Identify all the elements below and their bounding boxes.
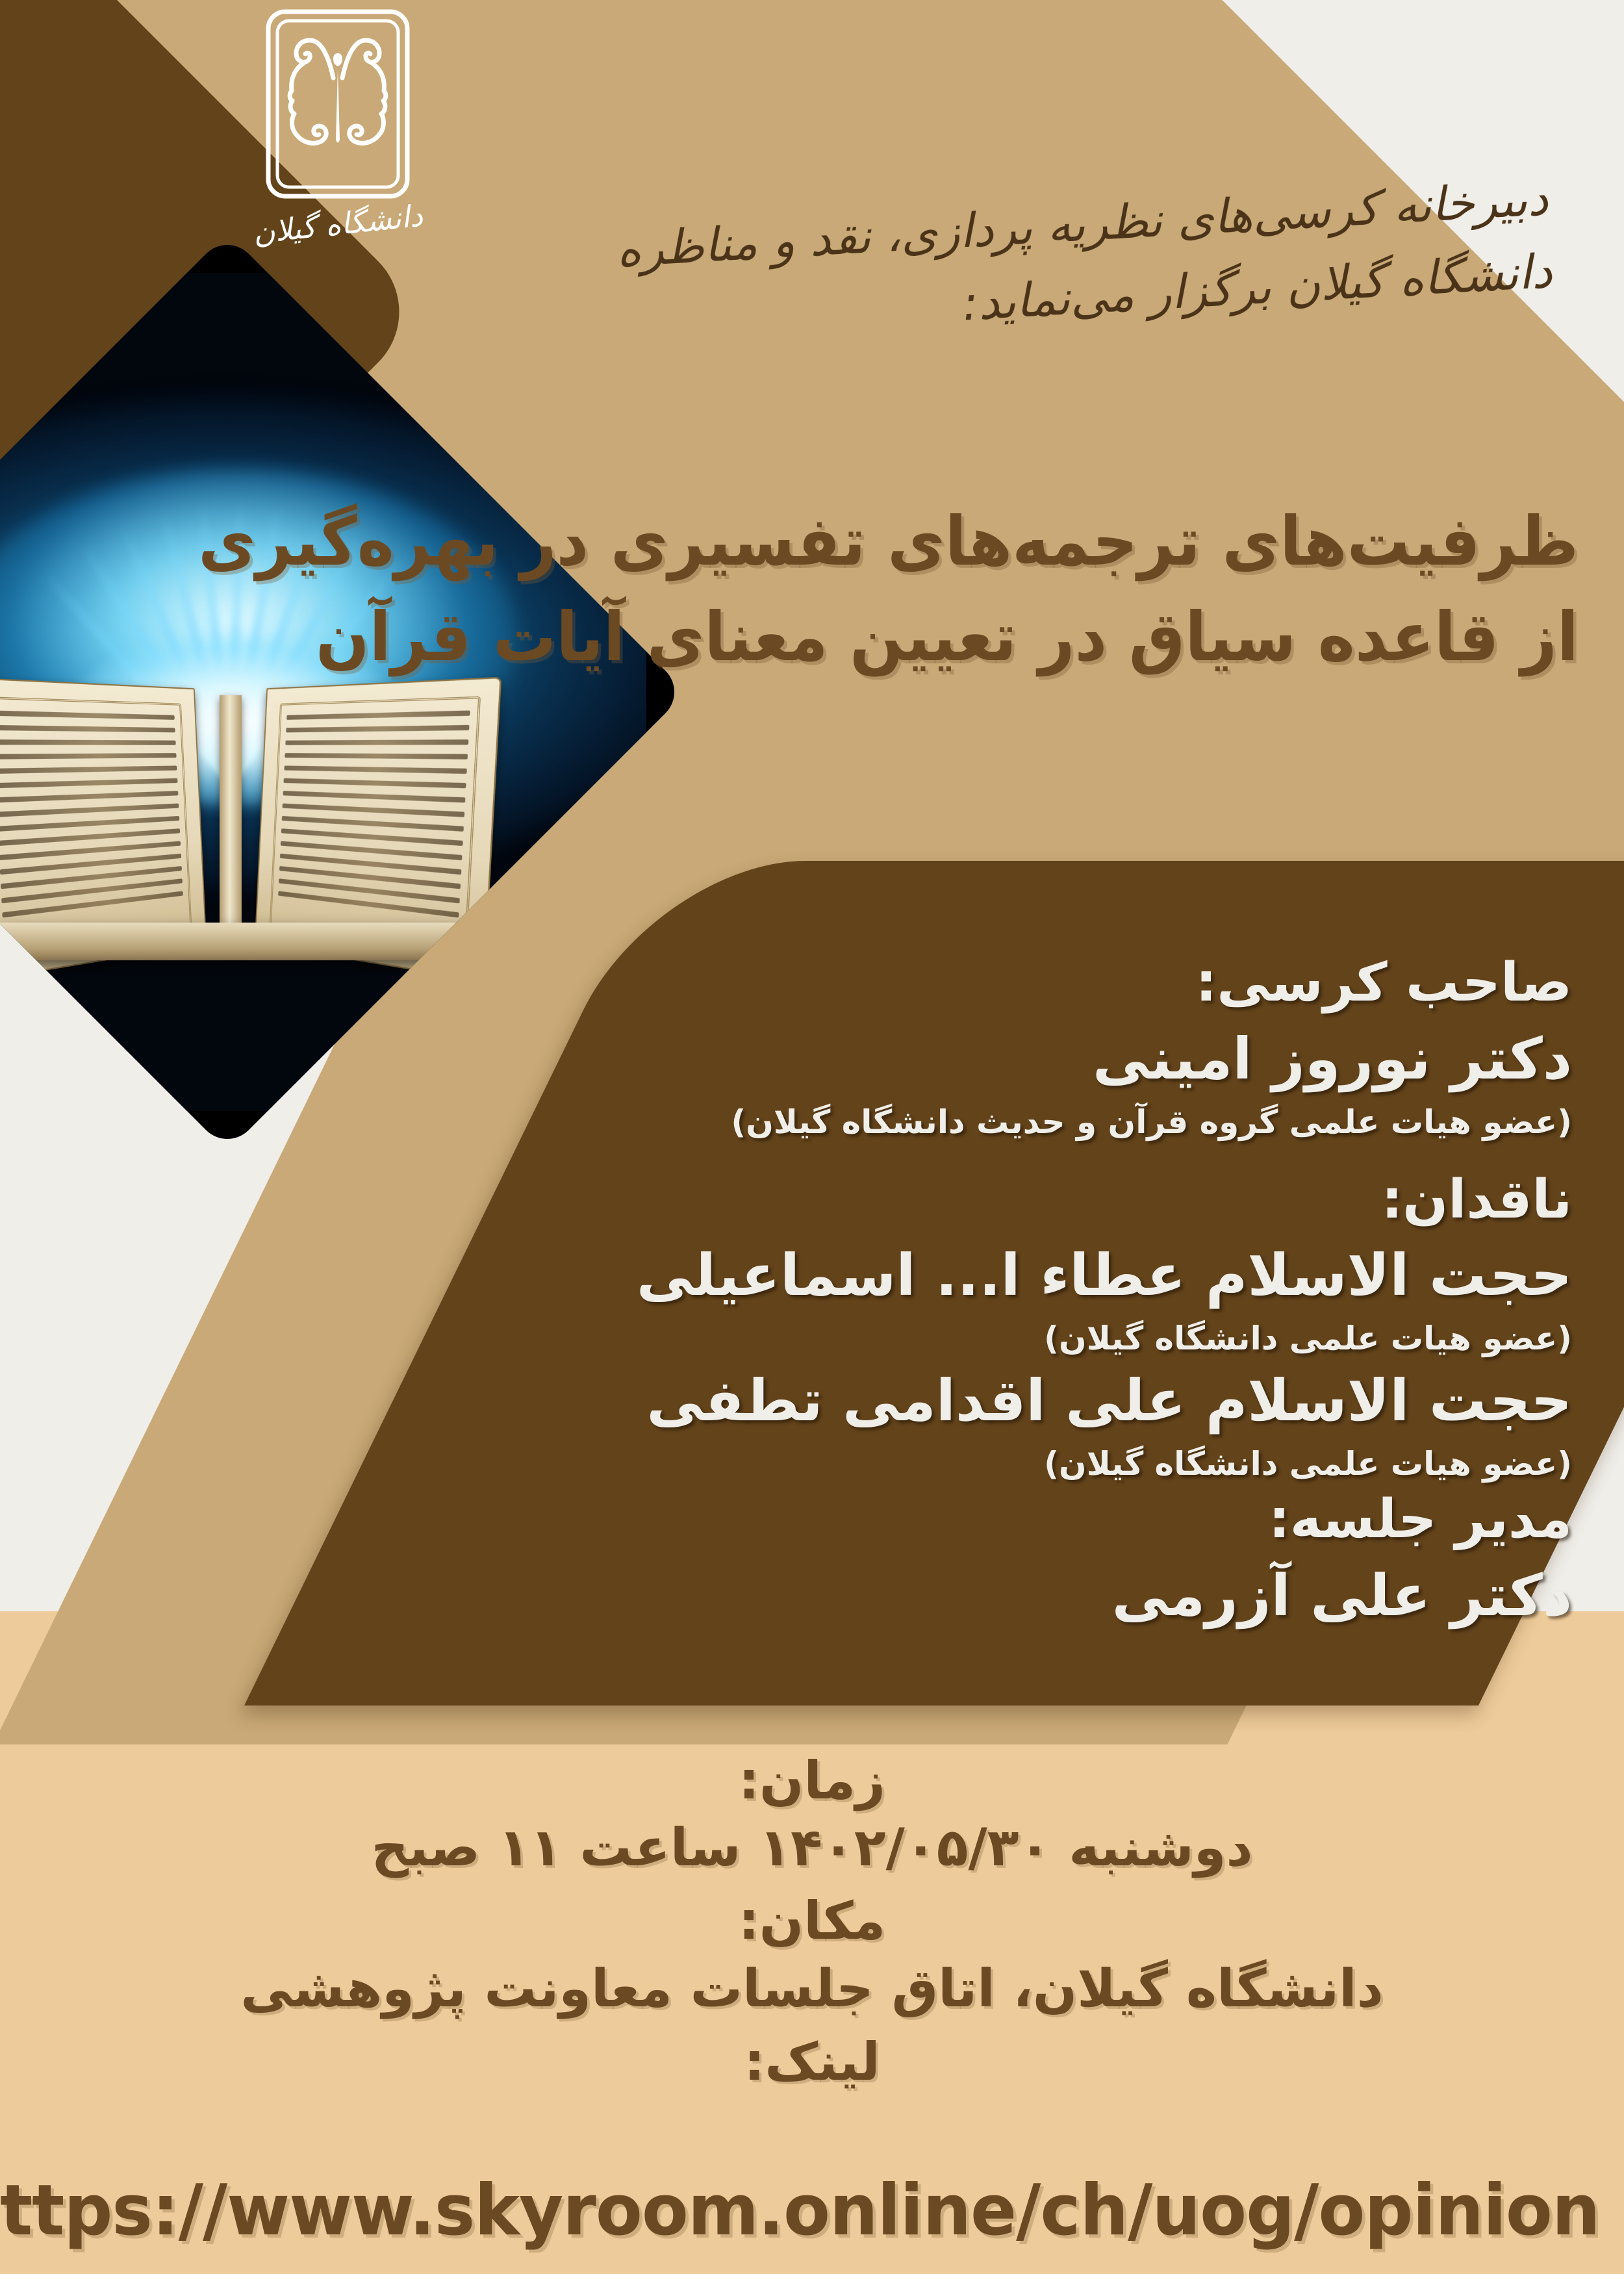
book-page-edges: [0, 923, 464, 960]
chair-affiliation: (عضو هیات علمی گروه قرآن و حدیث دانشگاه …: [559, 1101, 1572, 1143]
critics-label: ناقدان:: [559, 1166, 1572, 1235]
chair-name: دکتر نوروز امینی: [559, 1021, 1572, 1097]
critic-1-name: حجت الاسلام عطاء ا... اسماعیلی: [559, 1237, 1572, 1314]
link-label: لینک:: [0, 2029, 1624, 2095]
event-details: زمان: دوشنبه ۱۴۰۲/۰۵/۳۰ ساعت ۱۱ صبح مکان…: [0, 1748, 1624, 2095]
book-spine: [220, 695, 242, 955]
open-book-icon: [0, 656, 490, 968]
place-label: مکان:: [0, 1888, 1624, 1954]
critic-2-name: حجت الاسلام علی اقدامی تطفی: [559, 1362, 1572, 1439]
page-title: ظرفیت‌های ترجمه‌های تفسیری در بهره‌گیری …: [141, 494, 1579, 685]
critic-1-affiliation: (عضو هیات علمی دانشگاه گیلان): [559, 1318, 1572, 1360]
time-value: دوشنبه ۱۴۰۲/۰۵/۳۰ ساعت ۱۱ صبح: [0, 1814, 1624, 1882]
critic-2-affiliation: (عضو هیات علمی دانشگاه گیلان): [559, 1443, 1572, 1485]
speakers-section: صاحب کرسی: دکتر نوروز امینی (عضو هیات عل…: [559, 949, 1572, 1633]
title-line-2: از قاعده سیاق در تعیین معنای آیات قرآن: [141, 589, 1579, 685]
time-label: زمان:: [0, 1748, 1624, 1814]
logo-caption: دانشگاه گیلان: [239, 196, 437, 251]
university-logo: دانشگاه گیلان: [240, 6, 435, 286]
title-line-1: ظرفیت‌های ترجمه‌های تفسیری در بهره‌گیری: [141, 494, 1579, 590]
chair-label: صاحب کرسی:: [559, 949, 1572, 1018]
event-poster: دانشگاه گیلان دبیرخانه کرسی‌های نظریه پر…: [0, 0, 1624, 2274]
moderator-label: مدیر جلسه:: [559, 1485, 1572, 1555]
meeting-link[interactable]: https://www.skyroom.online/ch/uog/opinio…: [25, 2170, 1600, 2251]
university-of-gilan-logo-icon: [263, 6, 412, 201]
place-value: دانشگاه گیلان، اتاق جلسات معاونت پژوهشی: [0, 1955, 1624, 2023]
moderator-name: دکتر علی آزرمی: [559, 1557, 1572, 1634]
